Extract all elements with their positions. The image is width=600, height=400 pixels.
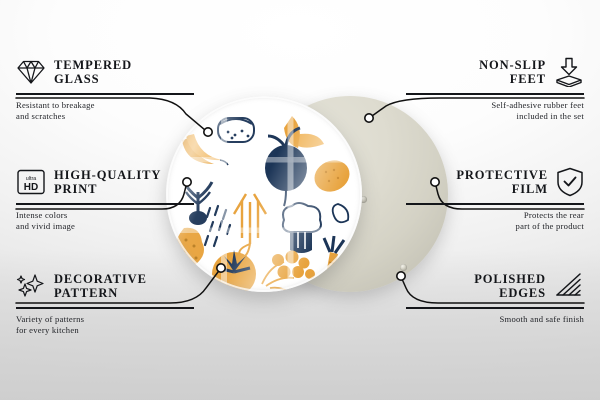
feature-title: POLISHED EDGES — [474, 272, 546, 300]
feature-divider — [406, 93, 584, 95]
feature-description: Variety of patterns for every kitchen — [16, 314, 194, 336]
feature-header: DECORATIVE PATTERN — [16, 268, 194, 304]
feature-header: POLISHED EDGES — [406, 268, 584, 304]
feature-description: Smooth and safe finish — [406, 314, 584, 325]
board-pattern-artwork — [166, 96, 362, 292]
feature-non-slip-feet: NON-SLIP FEET Self-adhesive rubber feet … — [406, 54, 584, 122]
feature-header: ultra HD HIGH-QUALITY PRINT — [16, 164, 194, 200]
feature-header: PROTECTIVE FILM — [406, 164, 584, 200]
feature-description: Intense colors and vivid image — [16, 210, 194, 232]
feature-title: PROTECTIVE FILM — [456, 168, 548, 196]
feature-polished-edges: POLISHED EDGES Smooth and safe finish — [406, 268, 584, 325]
infographic-canvas: TEMPERED GLASS Resistant to breakage and… — [0, 0, 600, 400]
feature-divider — [16, 307, 194, 309]
feature-title: DECORATIVE PATTERN — [54, 272, 147, 300]
feature-title: TEMPERED GLASS — [54, 58, 132, 86]
feature-description: Self-adhesive rubber feet included in th… — [406, 100, 584, 122]
feature-high-quality-print: ultra HD HIGH-QUALITY PRINT Intense colo… — [16, 164, 194, 232]
front-board — [166, 96, 362, 292]
feature-decorative-pattern: DECORATIVE PATTERN Variety of patterns f… — [16, 268, 194, 336]
feature-tempered-glass: TEMPERED GLASS Resistant to breakage and… — [16, 54, 194, 122]
feature-header: TEMPERED GLASS — [16, 54, 194, 90]
shield-check-icon — [556, 167, 584, 197]
feature-description: Protects the rear part of the product — [406, 210, 584, 232]
feature-header: NON-SLIP FEET — [406, 54, 584, 90]
feature-divider — [406, 307, 584, 309]
arrow-down-pad-icon — [554, 57, 584, 87]
feature-divider — [16, 203, 194, 205]
feature-title: NON-SLIP FEET — [479, 58, 546, 86]
svg-text:HD: HD — [24, 182, 38, 193]
feature-description: Resistant to breakage and scratches — [16, 100, 194, 122]
sparkles-icon — [16, 273, 46, 299]
feature-protective-film: PROTECTIVE FILM Protects the rear part o… — [406, 164, 584, 232]
feature-divider — [406, 203, 584, 205]
diagonal-lines-icon — [554, 272, 584, 300]
ultra-hd-icon: ultra HD — [16, 168, 46, 196]
diamond-icon — [16, 59, 46, 85]
feature-title: HIGH-QUALITY PRINT — [54, 168, 161, 196]
feature-divider — [16, 93, 194, 95]
